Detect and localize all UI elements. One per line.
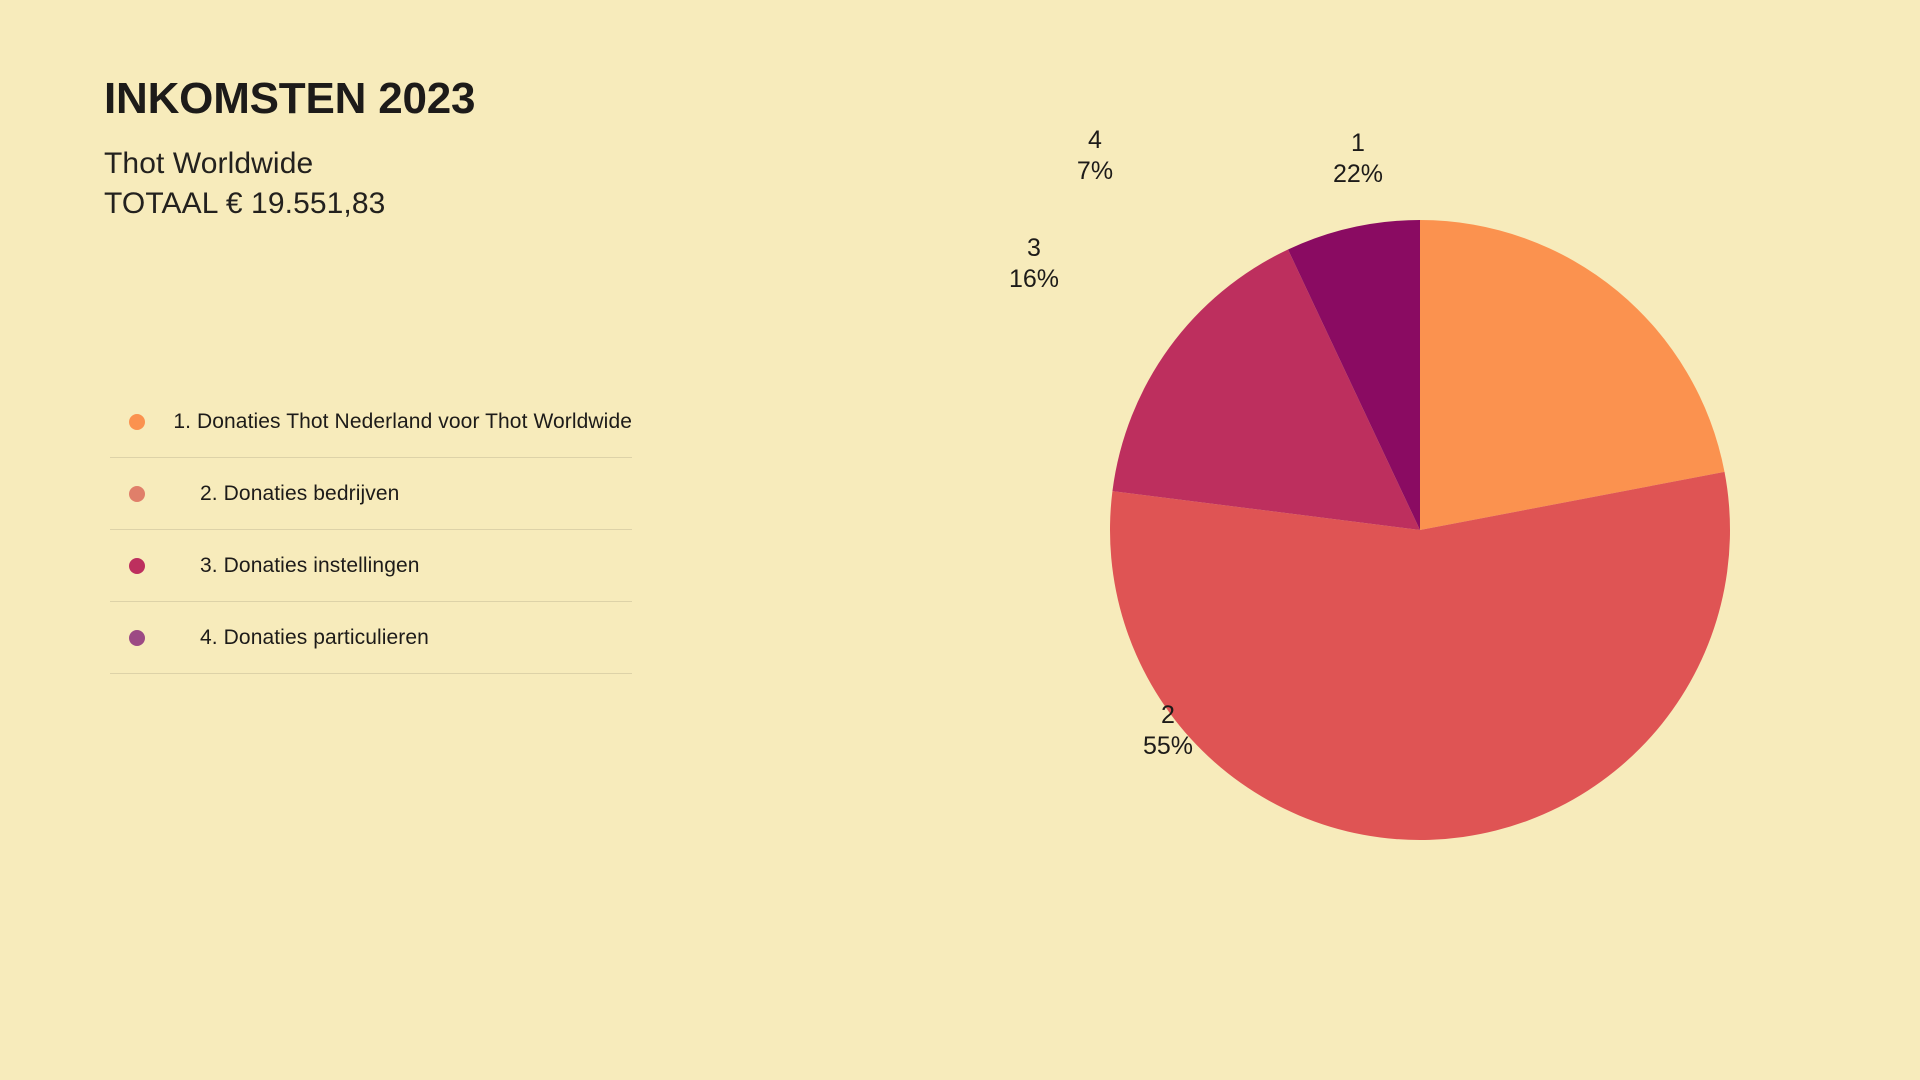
slice-label-2: 2 55% (1108, 700, 1228, 761)
total-amount: TOTAAL € 19.551,83 (104, 184, 824, 224)
slice-label-1-percent: 22% (1298, 159, 1418, 190)
legend: 1. Donaties Thot Nederland voor Thot Wor… (110, 386, 632, 674)
slice-label-3-percent: 16% (974, 264, 1094, 295)
slice-label-2-name: 2 (1108, 700, 1228, 731)
page-title: INKOMSTEN 2023 (104, 76, 824, 122)
legend-item-1[interactable]: 1. Donaties Thot Nederland voor Thot Wor… (110, 386, 632, 458)
legend-color-dot-icon (129, 630, 145, 646)
legend-swatch-cell-1 (110, 414, 173, 430)
pie-chart: 1 22% 2 55% 3 16% 4 7% (1020, 110, 1840, 970)
legend-item-4[interactable]: 4. Donaties particulieren (110, 602, 632, 674)
pie-chart-svg (1020, 110, 1840, 970)
legend-color-dot-icon (129, 486, 145, 502)
legend-label-3: 3. Donaties instellingen (200, 555, 420, 576)
slice-label-3-name: 3 (974, 233, 1094, 264)
legend-item-3[interactable]: 3. Donaties instellingen (110, 530, 632, 602)
legend-swatch-cell-3 (110, 558, 200, 574)
infographic-canvas: INKOMSTEN 2023 Thot Worldwide TOTAAL € 1… (0, 0, 1920, 1080)
legend-swatch-cell-4 (110, 630, 200, 646)
legend-color-dot-icon (129, 558, 145, 574)
header-block: INKOMSTEN 2023 Thot Worldwide TOTAAL € 1… (104, 76, 824, 223)
slice-label-4-percent: 7% (1035, 156, 1155, 187)
slice-label-4-name: 4 (1035, 125, 1155, 156)
slice-label-3: 3 16% (974, 233, 1094, 294)
legend-swatch-cell-2 (110, 486, 200, 502)
slice-label-1: 1 22% (1298, 128, 1418, 189)
slice-label-2-percent: 55% (1108, 731, 1228, 762)
legend-label-4: 4. Donaties particulieren (200, 627, 429, 648)
slice-label-4: 4 7% (1035, 125, 1155, 186)
slice-label-1-name: 1 (1298, 128, 1418, 159)
legend-item-2[interactable]: 2. Donaties bedrijven (110, 458, 632, 530)
legend-color-dot-icon (129, 414, 145, 430)
organization-name: Thot Worldwide (104, 144, 824, 184)
legend-label-2: 2. Donaties bedrijven (200, 483, 399, 504)
legend-label-1: 1. Donaties Thot Nederland voor Thot Wor… (173, 411, 632, 432)
